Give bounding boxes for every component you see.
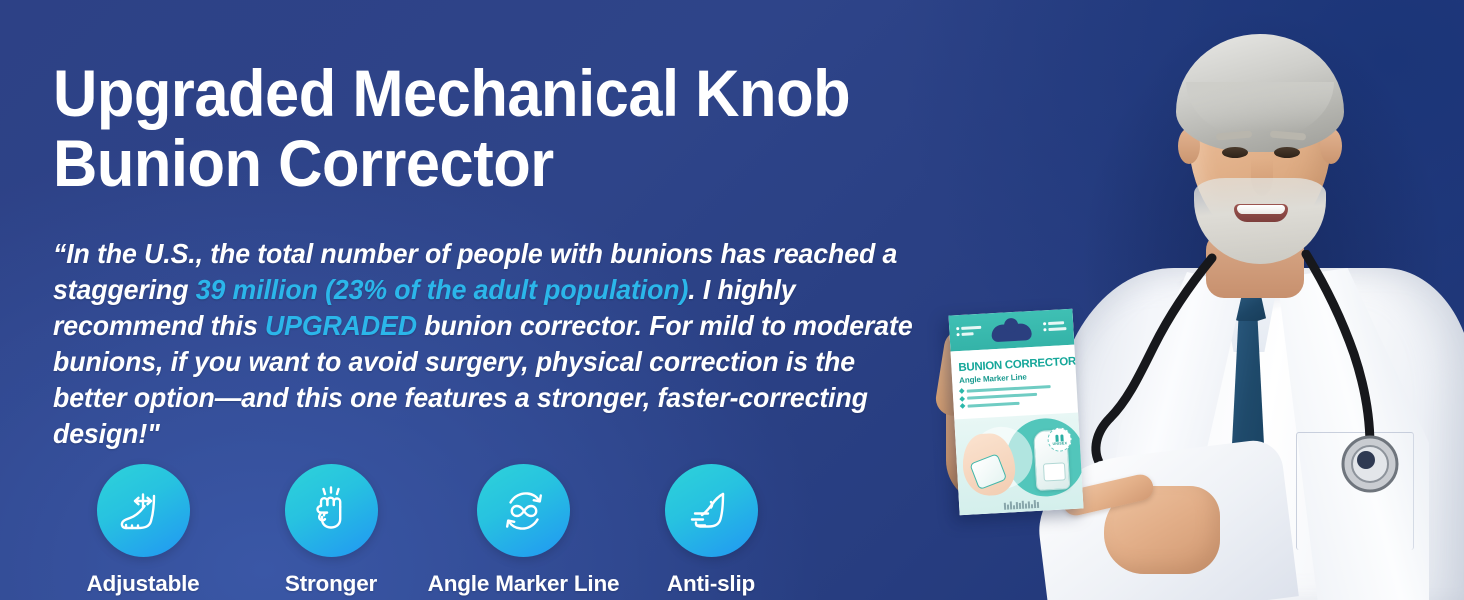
bullet-dot [1043,322,1046,325]
bullet-text-bar [967,385,1051,393]
feature-badge-anti-slip [665,464,758,557]
headline-line-1: Upgraded Mechanical Knob [53,56,850,130]
feature-label-angle-marker-line: Angle Marker Line [428,571,620,597]
foot-motion-icon [681,481,741,541]
package-front-face: BUNION CORRECTOR Angle Marker Line UNIS [951,345,1084,516]
package-title: BUNION CORRECTOR [958,356,1076,375]
infinity-refresh-icon [494,481,554,541]
teeth [1237,205,1285,214]
unisex-badge-label: UNISEX [1052,441,1067,446]
diamond-bullet-icon [960,403,966,409]
bullet-bar [961,326,981,330]
bullet-text-bar [967,393,1037,400]
bullet-bar [962,332,974,335]
bullet-dot [956,327,959,330]
foot-adjust-icon [113,481,173,541]
feature-item-anti-slip: Anti-slip [621,464,801,597]
package-hang-tab [991,323,1032,342]
feature-badge-adjustable [97,464,190,557]
feature-list: Adjustable [50,464,801,597]
doctor-testimonial-quote: “In the U.S., the total number of people… [53,236,926,452]
quote-highlight-upgraded: UPGRADED [265,310,417,341]
package-barcode [1004,500,1039,510]
eye-left [1222,147,1248,158]
feature-label-adjustable: Adjustable [86,571,199,597]
mouth [1234,204,1288,222]
diamond-bullet-icon [959,396,965,402]
banner-content: Upgraded Mechanical Knob Bunion Correcto… [50,0,980,600]
quote-highlight-statistic: 39 million (23% of the adult population) [196,274,689,305]
package-bullet-list [960,384,1052,412]
package-top-features-right [1043,321,1067,334]
feature-item-angle-marker-line: Angle Marker Line [426,464,621,597]
feature-badge-angle-marker-line [477,464,570,557]
bullet-dot [957,333,960,336]
pointing-hand [1066,460,1226,580]
feature-label-stronger: Stronger [285,571,377,597]
product-package: BUNION CORRECTOR Angle Marker Line UNIS [949,309,1084,516]
bullet-text-bar [967,401,1019,407]
feature-label-anti-slip: Anti-slip [667,571,755,597]
diamond-bullet-icon [959,388,965,394]
page-title: Upgraded Mechanical Knob Bunion Correcto… [53,58,909,198]
bullet-bar [1048,321,1064,324]
doctor-photo: BUNION CORRECTOR Angle Marker Line UNIS [944,0,1464,600]
package-top-features-left [956,326,982,339]
feature-badge-stronger [285,464,378,557]
eye-right [1274,147,1300,158]
fist-strength-icon [301,481,361,541]
hair [1176,34,1344,152]
package-subtitle: Angle Marker Line [959,372,1027,385]
package-product-photo: UNISEX [954,413,1083,516]
bullet-dot [1043,328,1046,331]
headline-line-2: Bunion Corrector [53,128,909,198]
doctor-head [1172,28,1348,250]
bullet-bar [1048,327,1066,331]
package-bullet [960,399,1051,408]
feature-item-adjustable: Adjustable [50,464,236,597]
feature-item-stronger: Stronger [236,464,426,597]
product-hero-banner: Upgraded Mechanical Knob Bunion Correcto… [0,0,1464,600]
